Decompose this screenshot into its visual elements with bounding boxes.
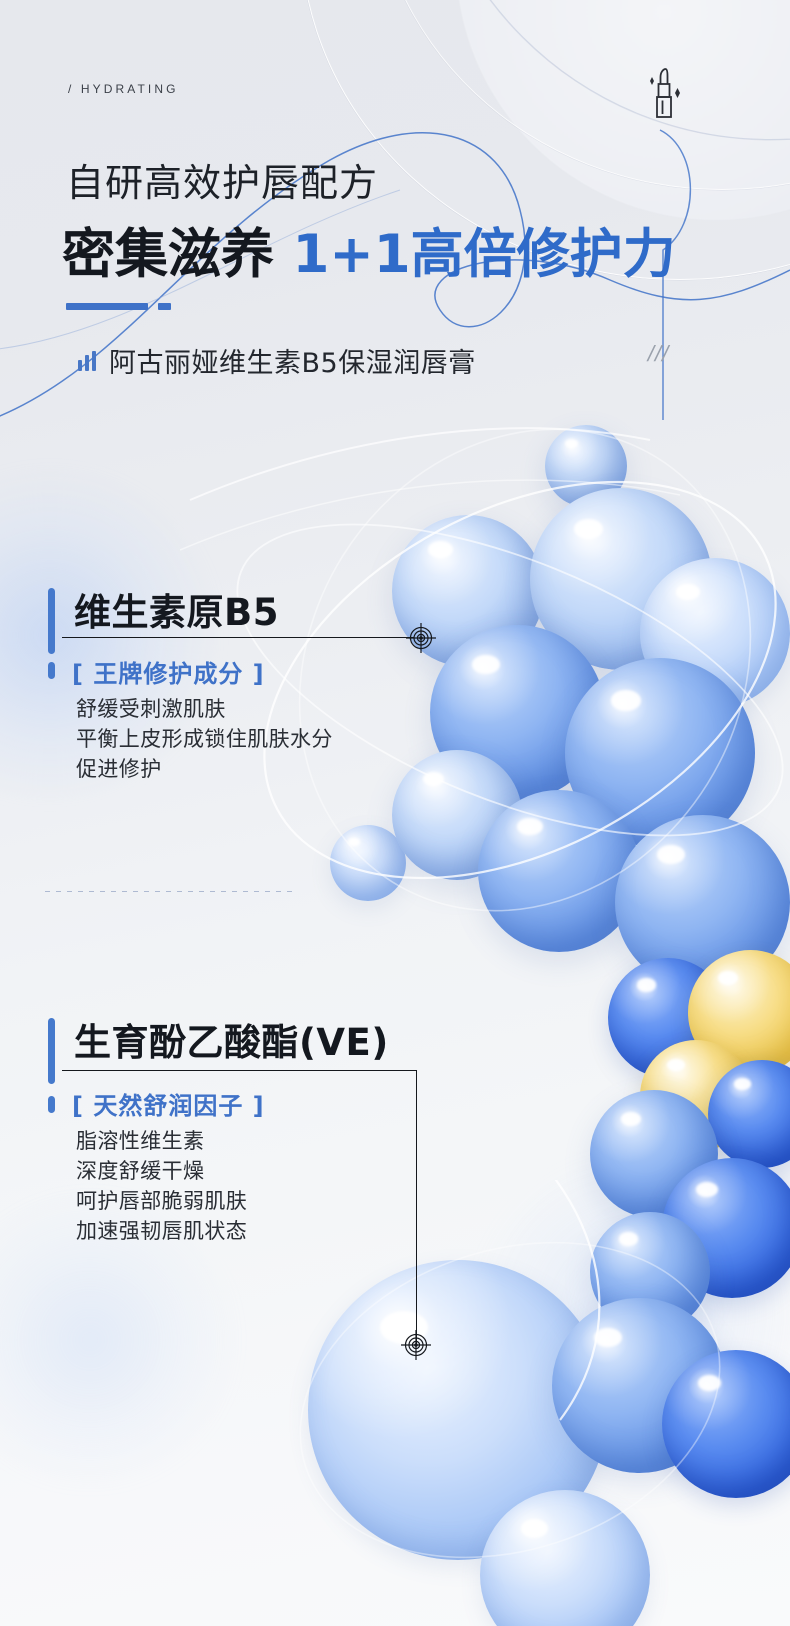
product-poster: / HYDRATING 自研高效护唇配方 密集滋养 1+1高倍修护力 阿古丽娅维… <box>0 0 790 1626</box>
ingredient-1-description: 舒缓受刺激肌肤 平衡上皮形成锁住肌肤水分 促进修护 <box>76 694 333 784</box>
ingredient-1-name: 维生素原B5 <box>74 582 279 636</box>
ingredient-1-accent-bar-small <box>48 662 55 679</box>
bar-chart-icon <box>78 351 96 371</box>
ingredient-2-description: 脂溶性维生素 深度舒缓干燥 呵护唇部脆弱肌肤 加速强韧唇肌状态 <box>76 1126 247 1246</box>
top-right-disc <box>456 0 790 220</box>
ingredient-1-desc-line: 平衡上皮形成锁住肌肤水分 <box>76 724 333 754</box>
orbit-rings-lower <box>280 1180 790 1600</box>
ingredient-1-tag: [ 王牌修护成分 ] <box>72 654 265 689</box>
ingredient-1-accent-bar <box>48 588 55 654</box>
background-arc-2 <box>372 0 790 190</box>
product-name-row: 阿古丽娅维生素B5保湿润唇膏 <box>78 341 476 380</box>
ingredient-1-leader-line <box>62 637 414 638</box>
headline-subtitle: 自研高效护唇配方 <box>66 152 378 207</box>
ingredient-2-leader-line-v <box>416 1070 417 1345</box>
sphere-satellite-top <box>545 425 627 507</box>
sphere-deep-lower-2 <box>590 1212 710 1332</box>
sphere-7 <box>478 790 640 952</box>
ingredient-2-accent-bar-small <box>48 1096 55 1113</box>
glow-right-lower <box>470 1150 790 1480</box>
sphere-3 <box>640 558 790 708</box>
sphere-2 <box>530 488 712 670</box>
sphere-big-glass <box>308 1260 608 1560</box>
ingredient-1-desc-line: 促进修护 <box>76 754 333 784</box>
ingredient-2-accent-bar <box>48 1018 55 1084</box>
sphere-deep-lower-1 <box>590 1090 718 1218</box>
ingredient-2-leader-line-h <box>62 1070 417 1071</box>
sphere-amber-1 <box>688 950 790 1075</box>
sphere-royal-2 <box>708 1060 790 1168</box>
sphere-5 <box>565 658 755 848</box>
ingredient-2-desc-line: 脂溶性维生素 <box>76 1126 247 1156</box>
sphere-satellite-left <box>330 825 406 901</box>
sphere-4 <box>430 625 605 800</box>
product-name: 阿古丽娅维生素B5保湿润唇膏 <box>109 341 476 380</box>
sphere-royal-4 <box>662 1350 790 1498</box>
slash-decoration: /// <box>645 341 672 367</box>
sphere-deep-lower-3 <box>552 1298 727 1473</box>
sphere-royal-1 <box>608 958 728 1078</box>
crosshair-target-icon-1 <box>406 623 436 658</box>
kicker-label: / HYDRATING <box>68 82 179 96</box>
headline-rule-dot <box>158 303 171 310</box>
headline-main: 密集滋养 1+1高倍修护力 <box>62 212 676 288</box>
section-dashed-divider <box>45 891 293 892</box>
background-arc-3 <box>420 0 790 140</box>
ingredient-1-desc-line: 舒缓受刺激肌肤 <box>76 694 333 724</box>
ingredient-2-desc-line: 加速强韧唇肌状态 <box>76 1216 247 1246</box>
ingredient-2-desc-line: 呵护唇部脆弱肌肤 <box>76 1186 247 1216</box>
sphere-8 <box>615 815 790 990</box>
ingredient-2-desc-line: 深度舒缓干燥 <box>76 1156 247 1186</box>
lipstick-icon <box>640 62 686 129</box>
sphere-6 <box>392 750 522 880</box>
ingredient-2-tag: [ 天然舒润因子 ] <box>72 1086 265 1121</box>
headline-main-accent: 1+1高倍修护力 <box>292 224 675 285</box>
sphere-glass-bottom <box>480 1490 650 1626</box>
headline-rule <box>66 303 148 310</box>
crosshair-target-icon-2 <box>401 1330 431 1365</box>
headline-main-black: 密集滋养 <box>62 224 274 285</box>
ingredient-2-name: 生育酚乙酸酯(VE) <box>74 1012 389 1066</box>
sphere-amber-2 <box>640 1040 752 1152</box>
sphere-royal-3 <box>662 1158 790 1298</box>
